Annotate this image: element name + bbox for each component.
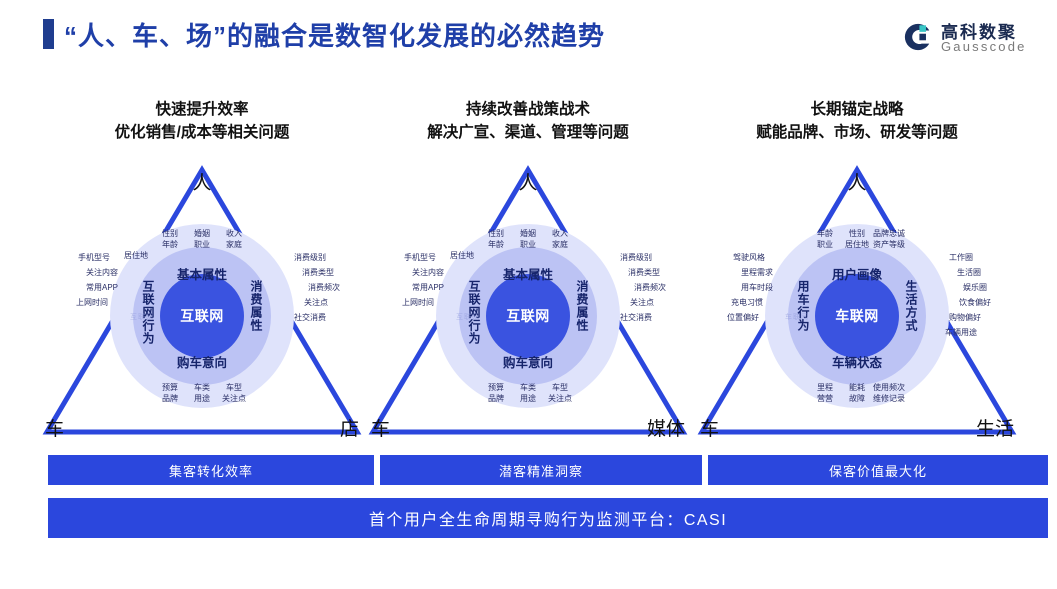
gausscode-mark-icon: [903, 22, 933, 52]
diagram-label: 预算: [480, 382, 512, 393]
triangle-1-corner-left: 车: [45, 414, 64, 441]
diagram-label: 消费频次: [634, 280, 666, 295]
diagram-1-left-labels: 手机型号关注内容常用APP上网时间: [76, 250, 104, 310]
diagram-label: 消费类型: [302, 265, 340, 280]
diagram-label: 职业: [809, 239, 841, 250]
diagram-label: 年龄: [154, 239, 186, 250]
platform-banner[interactable]: 首个用户全生命周期寻购行为监测平台：CASI: [48, 498, 1048, 538]
column-1-heading: 快速提升效率 优化销售/成本等相关问题: [35, 98, 369, 144]
triangle-2-corner-top: 人: [518, 168, 537, 195]
diagram-1-quad-top: 基本属性: [110, 264, 294, 283]
diagram-label: 常用APP: [76, 280, 118, 295]
diagram-label: 家庭: [544, 239, 576, 250]
diagram-label: 消费频次: [308, 280, 340, 295]
diagram-1-top-labels: 性别婚姻收入 年龄职业家庭 居住地: [110, 228, 294, 261]
diagram-label: 用途: [512, 393, 544, 404]
outcome-bar-3[interactable]: 保客价值最大化: [708, 455, 1048, 485]
diagram-label: 关注内容: [76, 265, 118, 280]
title-accent-bar: [43, 19, 54, 49]
diagram-3-left-labels: 驾驶风格里程需求用车时段充电习惯位置偏好: [727, 250, 759, 325]
diagram-label: 关注内容: [402, 265, 444, 280]
diagram-label: 用途: [186, 393, 218, 404]
triangle-2-corner-right: 媒体: [647, 414, 685, 441]
diagram-2-core-label: 互联网: [486, 274, 570, 358]
diagram-label: 社交消费: [620, 310, 666, 325]
diagram-label: 婚姻: [186, 228, 218, 239]
outcome-bar-row: 集客转化效率 潜客精准洞察 保客价值最大化: [0, 455, 1057, 485]
diagram-label: 娱乐圈: [963, 280, 991, 295]
diagram-label: 关注点: [304, 295, 340, 310]
column-1-heading-line2: 优化销售/成本等相关问题: [35, 121, 369, 144]
diagram-3: 车联网 用户画像 车辆状态 用车行为 生活方式 年龄性别品牌忠诚 职业居住地资产…: [765, 224, 949, 408]
diagram-1: 互联网 基本属性 购车意向 互联网行为 消费属性 性别婚姻收入 年龄职业家庭 居…: [110, 224, 294, 408]
diagram-1-bottom-row1: 预算车类车型: [110, 382, 294, 393]
diagram-label: 车辆用途: [945, 325, 991, 340]
diagram-label: 营营: [809, 393, 841, 404]
diagram-label: 社交消费: [294, 310, 340, 325]
diagram-label: 能耗: [841, 382, 873, 393]
diagram-label: 职业: [512, 239, 544, 250]
diagram-3-core-label: 车联网: [815, 274, 899, 358]
triangle-1-corner-right: 店: [340, 414, 359, 441]
column-2-heading-line2: 解决广宣、渠道、管理等问题: [361, 121, 695, 144]
diagram-1-watermark: 互联网: [130, 312, 154, 322]
diagram-2-top-row2: 年龄职业家庭: [436, 239, 620, 250]
diagram-label: 收入: [544, 228, 576, 239]
triangle-3-corner-left: 车: [700, 414, 719, 441]
column-2-heading-line1: 持续改善战策战术: [361, 98, 695, 121]
diagram-2-bottom-row1: 预算车类车型: [436, 382, 620, 393]
column-2-triangle: 人 车 媒体 互联网 基本属性 购车意向 互联网行为 消费属性 性别婚姻收入 年…: [361, 156, 695, 446]
column-3-heading-line2: 赋能品牌、市场、研发等问题: [690, 121, 1024, 144]
diagram-3-quad-right: 生活方式: [905, 280, 917, 332]
diagram-label: 年龄: [480, 239, 512, 250]
column-3: 长期锚定战略 赋能品牌、市场、研发等问题 人 车 生活 车联网 用户画像 车辆状…: [690, 98, 1024, 448]
diagram-3-quad-bottom: 车辆状态: [765, 352, 949, 371]
diagram-3-quad-top: 用户画像: [765, 264, 949, 283]
diagram-label: 关注点: [218, 393, 250, 404]
column-1: 快速提升效率 优化销售/成本等相关问题 人 车 店 互联网 基本属性 购车意向 …: [35, 98, 369, 448]
diagram-label: 手机型号: [76, 250, 110, 265]
diagram-label: 品牌: [480, 393, 512, 404]
logo-text-en: Gausscode: [941, 39, 1027, 54]
diagram-label: 资产等级: [873, 239, 905, 250]
diagram-label: 生活圈: [957, 265, 991, 280]
diagram-1-bottom-row2: 品牌用途关注点: [110, 393, 294, 404]
diagram-2-right-labels: 消费级别消费类型消费频次关注点社交消费: [626, 250, 666, 325]
diagram-2-bottom-labels: 预算车类车型 品牌用途关注点: [436, 382, 620, 404]
diagram-label: 关注点: [544, 393, 576, 404]
diagram-label: 消费级别: [620, 250, 666, 265]
diagram-3-quad-left: 用车行为: [797, 280, 809, 332]
diagram-3-bottom-row1: 里程能耗使用频次: [765, 382, 949, 393]
diagram-label: 使用频次: [873, 382, 905, 393]
brand-logo: 高科数聚 Gausscode: [903, 18, 1043, 60]
diagram-label: 用车时段: [727, 280, 773, 295]
outcome-bar-1[interactable]: 集客转化效率: [48, 455, 374, 485]
diagram-label: 职业: [186, 239, 218, 250]
diagram-label: 车型: [218, 382, 250, 393]
triangle-2-corner-left: 车: [371, 414, 390, 441]
diagram-3-right-labels: 工作圈生活圈娱乐圈饮食偏好购物偏好车辆用途: [955, 250, 991, 340]
diagram-1-quad-bottom: 购车意向: [110, 352, 294, 371]
diagram-label: 驾驶风格: [727, 250, 765, 265]
diagram-2: 互联网 基本属性 购车意向 互联网行为 消费属性 性别婚姻收入 年龄职业家庭 居…: [436, 224, 620, 408]
diagram-1-top-row3: 居住地: [110, 250, 294, 261]
diagram-label: 车类: [512, 382, 544, 393]
diagram-label: 里程需求: [727, 265, 773, 280]
diagram-label: 饮食偏好: [959, 295, 991, 310]
diagram-2-quad-top: 基本属性: [436, 264, 620, 283]
diagram-label: 车类: [186, 382, 218, 393]
diagram-1-top-row2: 年龄职业家庭: [110, 239, 294, 250]
diagram-label: 家庭: [218, 239, 250, 250]
diagram-label: 位置偏好: [727, 310, 759, 325]
diagram-label: 工作圈: [949, 250, 991, 265]
diagram-label: 维修记录: [873, 393, 905, 404]
column-3-heading-line1: 长期锚定战略: [690, 98, 1024, 121]
diagram-2-top-labels: 性别婚姻收入 年龄职业家庭 居住地: [436, 228, 620, 261]
outcome-bar-2[interactable]: 潜客精准洞察: [380, 455, 702, 485]
diagram-label: 消费级别: [294, 250, 340, 265]
diagram-2-quad-right: 消费属性: [576, 280, 588, 332]
diagram-label: 品牌忠诚: [873, 228, 905, 239]
column-2: 持续改善战策战术 解决广宣、渠道、管理等问题 人 车 媒体 互联网 基本属性 购…: [361, 98, 695, 448]
diagram-3-bottom-labels: 里程能耗使用频次 营营故障维修记录: [765, 382, 949, 404]
diagram-1-quad-right: 消费属性: [250, 280, 262, 332]
diagram-label: 里程: [809, 382, 841, 393]
diagram-label: 婚姻: [512, 228, 544, 239]
diagram-label: 年龄: [809, 228, 841, 239]
diagram-label: 上网时间: [76, 295, 108, 310]
column-1-triangle: 人 车 店 互联网 基本属性 购车意向 互联网行为 消费属性 性别婚姻收入 年龄…: [35, 156, 369, 446]
diagram-2-quad-bottom: 购车意向: [436, 352, 620, 371]
diagram-3-watermark: 车联网: [785, 312, 809, 322]
diagram-1-core-label: 互联网: [160, 274, 244, 358]
diagram-label: 品牌: [154, 393, 186, 404]
diagram-label: 上网时间: [402, 295, 434, 310]
column-3-heading: 长期锚定战略 赋能品牌、市场、研发等问题: [690, 98, 1024, 144]
column-3-triangle: 人 车 生活 车联网 用户画像 车辆状态 用车行为 生活方式 年龄性别品牌忠诚 …: [690, 156, 1024, 446]
diagram-label: 关注点: [630, 295, 666, 310]
diagram-label: 性别: [480, 228, 512, 239]
diagram-3-top-row1: 年龄性别品牌忠诚: [765, 228, 949, 239]
diagram-2-watermark: 互联网: [456, 312, 480, 322]
column-2-heading: 持续改善战策战术 解决广宣、渠道、管理等问题: [361, 98, 695, 144]
diagram-label: 车型: [544, 382, 576, 393]
diagram-label: 手机型号: [402, 250, 436, 265]
diagram-label: 居住地: [124, 250, 156, 261]
triangle-3-corner-top: 人: [847, 168, 866, 195]
diagram-label: 故障: [841, 393, 873, 404]
diagram-2-left-labels: 手机型号关注内容常用APP上网时间: [402, 250, 430, 310]
page-header: “人、车、场”的融合是数智化发展的必然趋势 高科数聚 Gausscode: [0, 0, 1057, 66]
diagram-label: 购物偏好: [949, 310, 991, 325]
diagram-2-top-row1: 性别婚姻收入: [436, 228, 620, 239]
diagram-3-bottom-row2: 营营故障维修记录: [765, 393, 949, 404]
diagram-3-top-labels: 年龄性别品牌忠诚 职业居住地资产等级: [765, 228, 949, 250]
diagram-label: 收入: [218, 228, 250, 239]
diagram-label: 居住地: [450, 250, 482, 261]
triangle-1-corner-top: 人: [192, 168, 211, 195]
diagram-label: 性别: [154, 228, 186, 239]
column-1-heading-line1: 快速提升效率: [35, 98, 369, 121]
diagram-label: 居住地: [841, 239, 873, 250]
diagram-1-top-row1: 性别婚姻收入: [110, 228, 294, 239]
diagram-label: 性别: [841, 228, 873, 239]
diagram-label: 充电习惯: [727, 295, 763, 310]
diagram-label: 预算: [154, 382, 186, 393]
diagram-3-top-row2: 职业居住地资产等级: [765, 239, 949, 250]
diagram-2-top-row3: 居住地: [436, 250, 620, 261]
diagram-2-bottom-row2: 品牌用途关注点: [436, 393, 620, 404]
diagram-1-right-labels: 消费级别消费类型消费频次关注点社交消费: [300, 250, 340, 325]
diagram-label: 消费类型: [628, 265, 666, 280]
triangle-3-corner-right: 生活: [976, 414, 1014, 441]
diagram-label: 常用APP: [402, 280, 444, 295]
diagram-1-bottom-labels: 预算车类车型 品牌用途关注点: [110, 382, 294, 404]
page-title: “人、车、场”的融合是数智化发展的必然趋势: [64, 16, 605, 53]
